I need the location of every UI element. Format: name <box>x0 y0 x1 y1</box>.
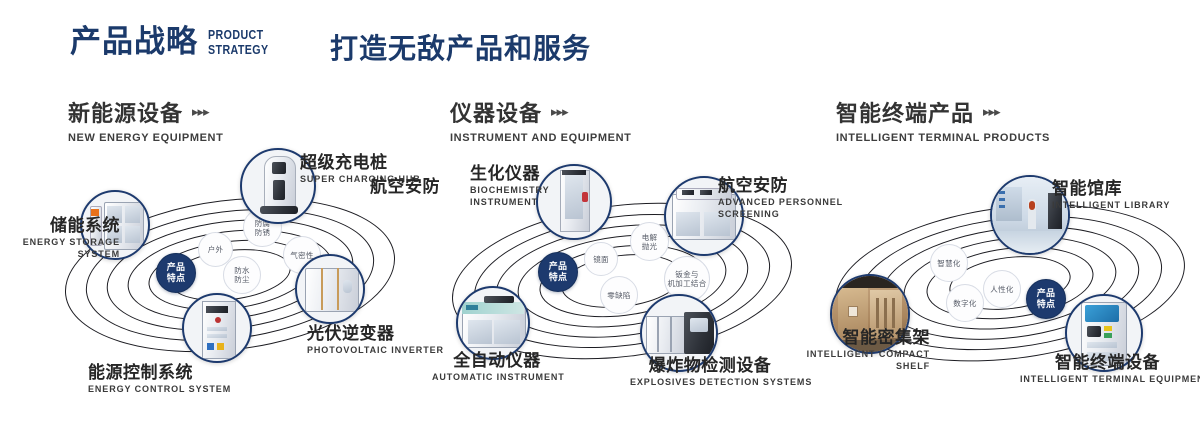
node-label-cn: 光伏逆变器 <box>307 323 444 344</box>
product-node-energy-control-system[interactable] <box>182 293 252 363</box>
section-title-cn-instrument: 仪器设备 ▸▸▸ <box>450 96 631 128</box>
node-label-intelligent-terminal-equipment: 智能终端设备 INTELLIGENT TERMINAL EQUIPMENT <box>1020 352 1195 385</box>
feature-bubble-label-line2: 抛光 <box>642 242 658 251</box>
section-title-cn-new-energy: 新能源设备 ▸▸▸ <box>68 96 223 128</box>
feature-core-line1: 产品 <box>549 261 568 272</box>
node-label-en-line1: INTELLIGENT LIBRARY <box>1052 200 1170 211</box>
section-title-en-intelligent-terminal: INTELLIGENT TERMINAL PRODUCTS <box>836 132 1050 144</box>
page-title-en-line2: STRATEGY <box>208 42 269 57</box>
feature-core-line2: 特点 <box>549 272 568 283</box>
feature-bubble-waterproof: 防水 防尘 <box>223 256 261 294</box>
node-label-en-line2: SYSTEM <box>10 249 120 260</box>
feature-bubble-label: 户外 <box>208 245 224 254</box>
node-label-cn: 智能馆库 <box>1052 178 1170 199</box>
product-node-photovoltaic-inverter[interactable] <box>295 254 365 324</box>
feature-bubble-label-line2: 防锈 <box>255 228 271 237</box>
node-label-biochemistry-instrument: 生化仪器 BIOCHEMISTRY INSTRUMENT <box>470 163 549 208</box>
node-label-cn: 智能密集架 <box>790 327 930 348</box>
node-label-en-line1: INTELLIGENT COMPACT <box>790 349 930 360</box>
feature-core-line2: 特点 <box>167 273 186 284</box>
node-label-en-line1: ENERGY STORAGE <box>10 237 120 248</box>
section-title-en-new-energy: NEW ENERGY EQUIPMENT <box>68 132 223 144</box>
section-title-en-instrument: INSTRUMENT AND EQUIPMENT <box>450 132 631 144</box>
feature-bubble-label: 零缺陷 <box>607 291 630 300</box>
node-label-en-line2: SHELF <box>790 361 930 372</box>
feature-bubble-label-line1: 电解 <box>642 233 658 242</box>
feature-bubble-zero-defect: 零缺陷 <box>600 276 638 314</box>
node-label-automatic-instrument: 全自动仪器 AUTOMATIC INSTRUMENT <box>432 350 562 383</box>
feature-bubble-intelligent: 智慧化 <box>930 244 968 282</box>
node-label-en-line1: PHOTOVOLTAIC INVERTER <box>307 345 444 356</box>
node-label-en-line1: EXPLOSIVES DETECTION SYSTEMS <box>630 377 790 388</box>
feature-bubble-label: 数字化 <box>953 299 976 308</box>
section-title-cn-text-instrument: 仪器设备 <box>450 96 542 128</box>
node-label-cn: 智能终端设备 <box>1020 352 1195 373</box>
feature-bubble-electropolishing: 电解 抛光 <box>630 222 669 261</box>
node-label-en-line2: INSTRUMENT <box>470 197 549 208</box>
node-label-cn: 储能系统 <box>10 215 120 236</box>
page-header: 产品战略 PRODUCT STRATEGY <box>70 24 282 60</box>
feature-bubble-label-line1: 钣金与 <box>668 270 707 279</box>
node-label-cn: 航空安防 <box>350 176 440 197</box>
node-label-cn: 爆炸物检测设备 <box>630 355 790 376</box>
section-head-intelligent-terminal: 智能终端产品 ▸▸▸ INTELLIGENT TERMINAL PRODUCTS <box>836 96 1050 144</box>
feature-core-line1: 产品 <box>1037 288 1056 299</box>
page-title-en: PRODUCT STRATEGY <box>208 27 269 57</box>
feature-core-line2: 特点 <box>1037 299 1056 310</box>
feature-bubble-label-line2: 机加工结合 <box>668 279 707 288</box>
node-label-aviation-security-left: 航空安防 <box>350 176 440 197</box>
node-label-en-line1: AUTOMATIC INSTRUMENT <box>432 372 562 383</box>
feature-bubble-label: 智慧化 <box>937 259 960 268</box>
node-label-energy-storage: 储能系统 ENERGY STORAGE SYSTEM <box>10 215 120 260</box>
node-label-cn: 能源控制系统 <box>88 362 231 383</box>
node-label-en-line1: INTELLIGENT TERMINAL EQUIPMENT <box>1020 374 1195 385</box>
node-label-cn: 超级充电桩 <box>300 152 421 173</box>
chevron-right-icon: ▸▸▸ <box>551 104 568 120</box>
node-label-explosives-detection: 爆炸物检测设备 EXPLOSIVES DETECTION SYSTEMS <box>630 355 790 388</box>
chevron-right-icon: ▸▸▸ <box>983 104 1000 120</box>
node-label-intelligent-compact-shelf: 智能密集架 INTELLIGENT COMPACT SHELF <box>790 327 930 372</box>
page-title-cn: 产品战略 <box>70 24 198 60</box>
feature-core-bubble-intelligent-terminal: 产品 特点 <box>1026 279 1066 319</box>
feature-core-bubble-instrument: 产品 特点 <box>538 252 578 292</box>
feature-bubble-humanized: 人性化 <box>983 270 1021 308</box>
energy-control-system-icon <box>184 295 250 361</box>
node-label-cn: 全自动仪器 <box>432 350 562 371</box>
section-title-cn-intelligent-terminal: 智能终端产品 ▸▸▸ <box>836 96 1050 128</box>
feature-bubble-label-line2: 防尘 <box>234 275 250 284</box>
feature-bubble-label: 人性化 <box>990 285 1013 294</box>
section-title-cn-text-intelligent-terminal: 智能终端产品 <box>836 96 974 128</box>
page-slogan: 打造无敌产品和服务 <box>330 27 591 67</box>
node-label-en-line1: ENERGY CONTROL SYSTEM <box>88 384 231 395</box>
node-label-energy-control-system: 能源控制系统 ENERGY CONTROL SYSTEM <box>88 362 231 395</box>
product-node-automatic-instrument[interactable] <box>456 286 530 360</box>
auto-analyzer-icon <box>458 288 528 358</box>
node-label-photovoltaic-inverter: 光伏逆变器 PHOTOVOLTAIC INVERTER <box>307 323 444 356</box>
feature-core-bubble-new-energy: 产品 特点 <box>156 253 196 293</box>
section-head-instrument: 仪器设备 ▸▸▸ INSTRUMENT AND EQUIPMENT <box>450 96 631 144</box>
section-title-cn-text-new-energy: 新能源设备 <box>68 96 183 128</box>
page-title-en-line1: PRODUCT <box>208 27 269 42</box>
feature-bubble-mirror: 镜面 <box>584 242 618 276</box>
photovoltaic-inverter-icon <box>297 256 363 322</box>
feature-core-line1: 产品 <box>167 262 186 273</box>
feature-bubble-label-line1: 防水 <box>234 266 250 275</box>
node-label-en-line1: BIOCHEMISTRY <box>470 185 549 196</box>
node-label-cn: 生化仪器 <box>470 163 549 184</box>
node-label-intelligent-library: 智能馆库 INTELLIGENT LIBRARY <box>1052 178 1170 211</box>
chevron-right-icon: ▸▸▸ <box>192 104 209 120</box>
feature-bubble-label: 镜面 <box>593 255 609 264</box>
feature-bubble-digital: 数字化 <box>946 284 984 322</box>
section-head-new-energy: 新能源设备 ▸▸▸ NEW ENERGY EQUIPMENT <box>68 96 223 144</box>
